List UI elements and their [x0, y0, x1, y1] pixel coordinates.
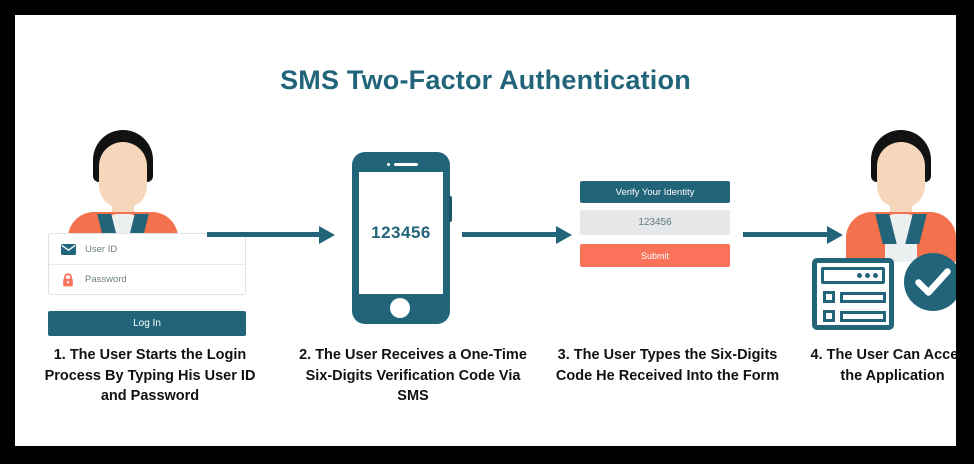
window-content-row — [823, 291, 886, 303]
log-in-button[interactable]: Log In — [48, 311, 246, 336]
window-dot — [857, 273, 862, 278]
window-dot — [873, 273, 878, 278]
browser-window-icon — [812, 258, 894, 330]
window-row-checkbox — [823, 291, 835, 303]
otp-code-display: 123456 — [371, 223, 431, 243]
check-circle-icon — [904, 253, 956, 311]
user-id-label: User ID — [85, 244, 117, 255]
step2-caption: 2. The User Receives a One-Time Six-Digi… — [298, 345, 528, 407]
arrow-head — [319, 226, 335, 244]
arrow-shaft — [207, 232, 319, 237]
page-title: SMS Two-Factor Authentication — [15, 65, 956, 96]
phone-speaker-slit — [394, 163, 418, 166]
arrow-step3-to-step4 — [743, 226, 843, 244]
window-dot — [865, 273, 870, 278]
step4-user-avatar — [841, 130, 956, 260]
arrow-head — [556, 226, 572, 244]
phone-screen: 123456 — [359, 172, 443, 294]
arrow-shaft — [462, 232, 556, 237]
window-row-bar — [840, 292, 886, 303]
window-content-row — [823, 310, 886, 322]
lock-icon — [57, 273, 79, 287]
phone-camera-dot — [387, 163, 390, 166]
verification-code-input[interactable]: 123456 — [580, 210, 730, 235]
password-field-row[interactable]: Password — [49, 264, 245, 294]
infographic-page: SMS Two-Factor Authentication — [0, 0, 974, 464]
login-form: User ID Password Log In — [48, 233, 248, 336]
step4-caption: 4. The User Can Access the Application — [805, 345, 956, 386]
step1-caption: 1. The User Starts the Login Process By … — [35, 345, 265, 407]
phone-side-button — [449, 196, 452, 222]
envelope-icon — [57, 244, 79, 255]
password-label: Password — [85, 274, 127, 285]
window-row-checkbox — [823, 310, 835, 322]
verify-form-header: Verify Your Identity — [580, 181, 730, 203]
window-titlebar — [821, 267, 885, 284]
window-row-bar — [840, 311, 886, 322]
smartphone-icon: 123456 — [352, 152, 450, 324]
arrow-shaft — [743, 232, 827, 237]
arrow-step1-to-step2 — [207, 226, 335, 244]
verify-identity-form: Verify Your Identity 123456 Submit — [580, 181, 730, 267]
arrow-step2-to-step3 — [462, 226, 572, 244]
submit-button[interactable]: Submit — [580, 244, 730, 267]
step3-caption: 3. The User Types the Six-Digits Code He… — [555, 345, 780, 386]
infographic-canvas: SMS Two-Factor Authentication — [15, 15, 956, 446]
phone-home-button — [390, 298, 410, 318]
